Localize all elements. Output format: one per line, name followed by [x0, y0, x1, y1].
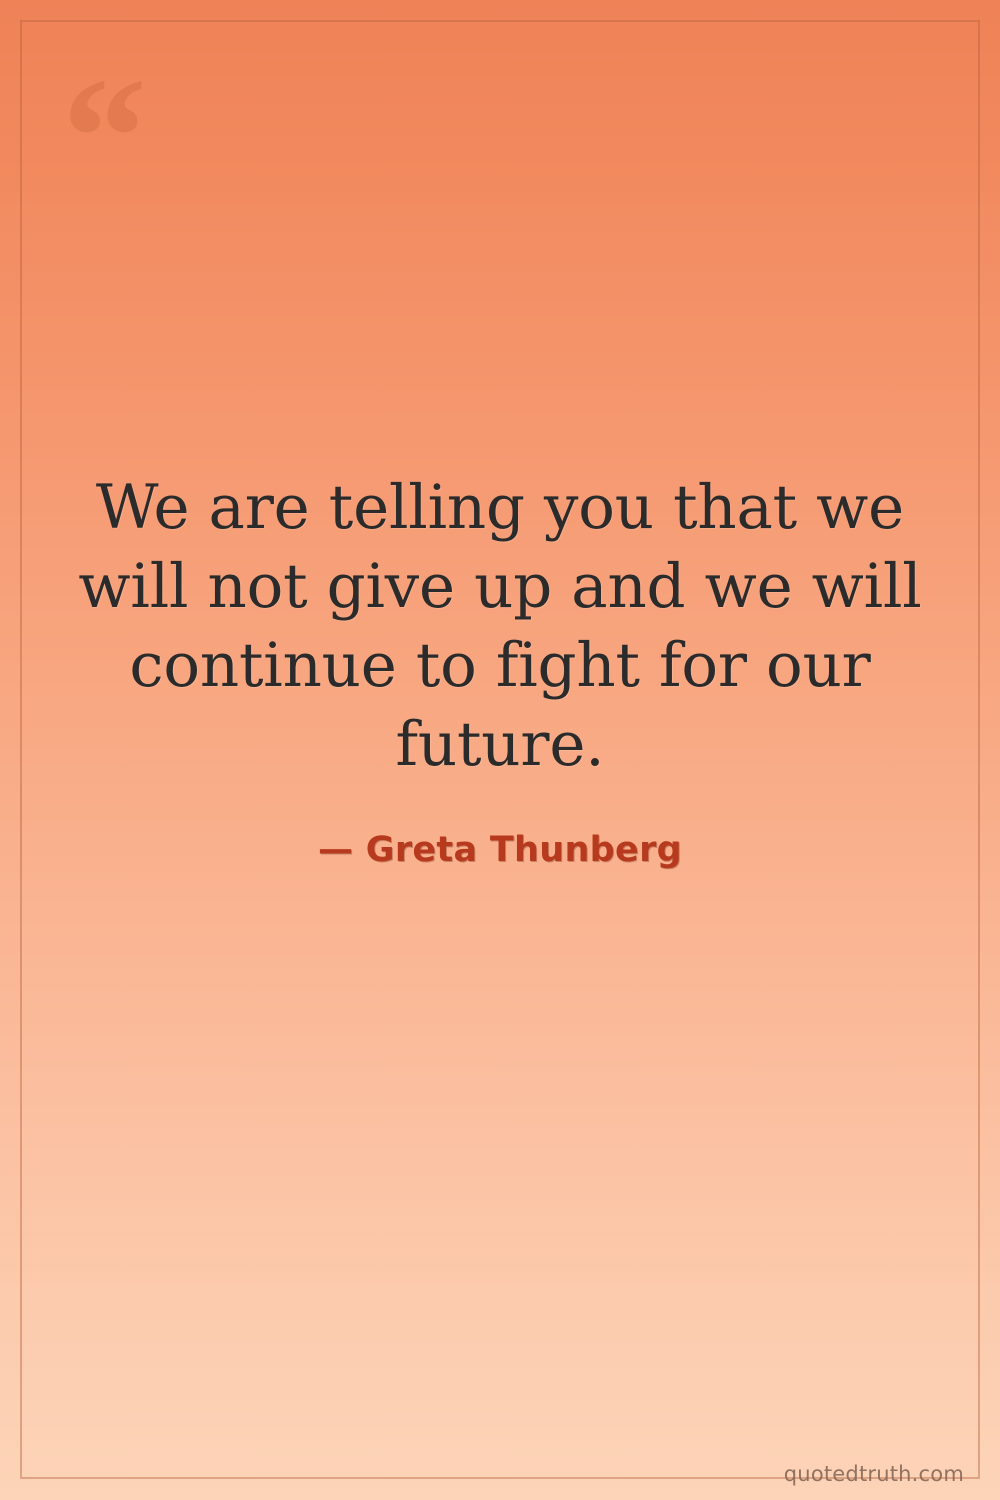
attribution-author-text: — Greta Thunberg: [318, 830, 682, 870]
quotation-mark-icon: “: [62, 52, 147, 222]
quote-block: We are telling you that we will not give…: [0, 468, 1000, 784]
quote-card: “ We are telling you that we will not gi…: [0, 0, 1000, 1500]
quote-text: We are telling you that we will not give…: [70, 468, 930, 784]
attribution: — Greta Thunberg: [0, 830, 1000, 870]
watermark-site-url: quotedtruth.com: [784, 1462, 964, 1486]
